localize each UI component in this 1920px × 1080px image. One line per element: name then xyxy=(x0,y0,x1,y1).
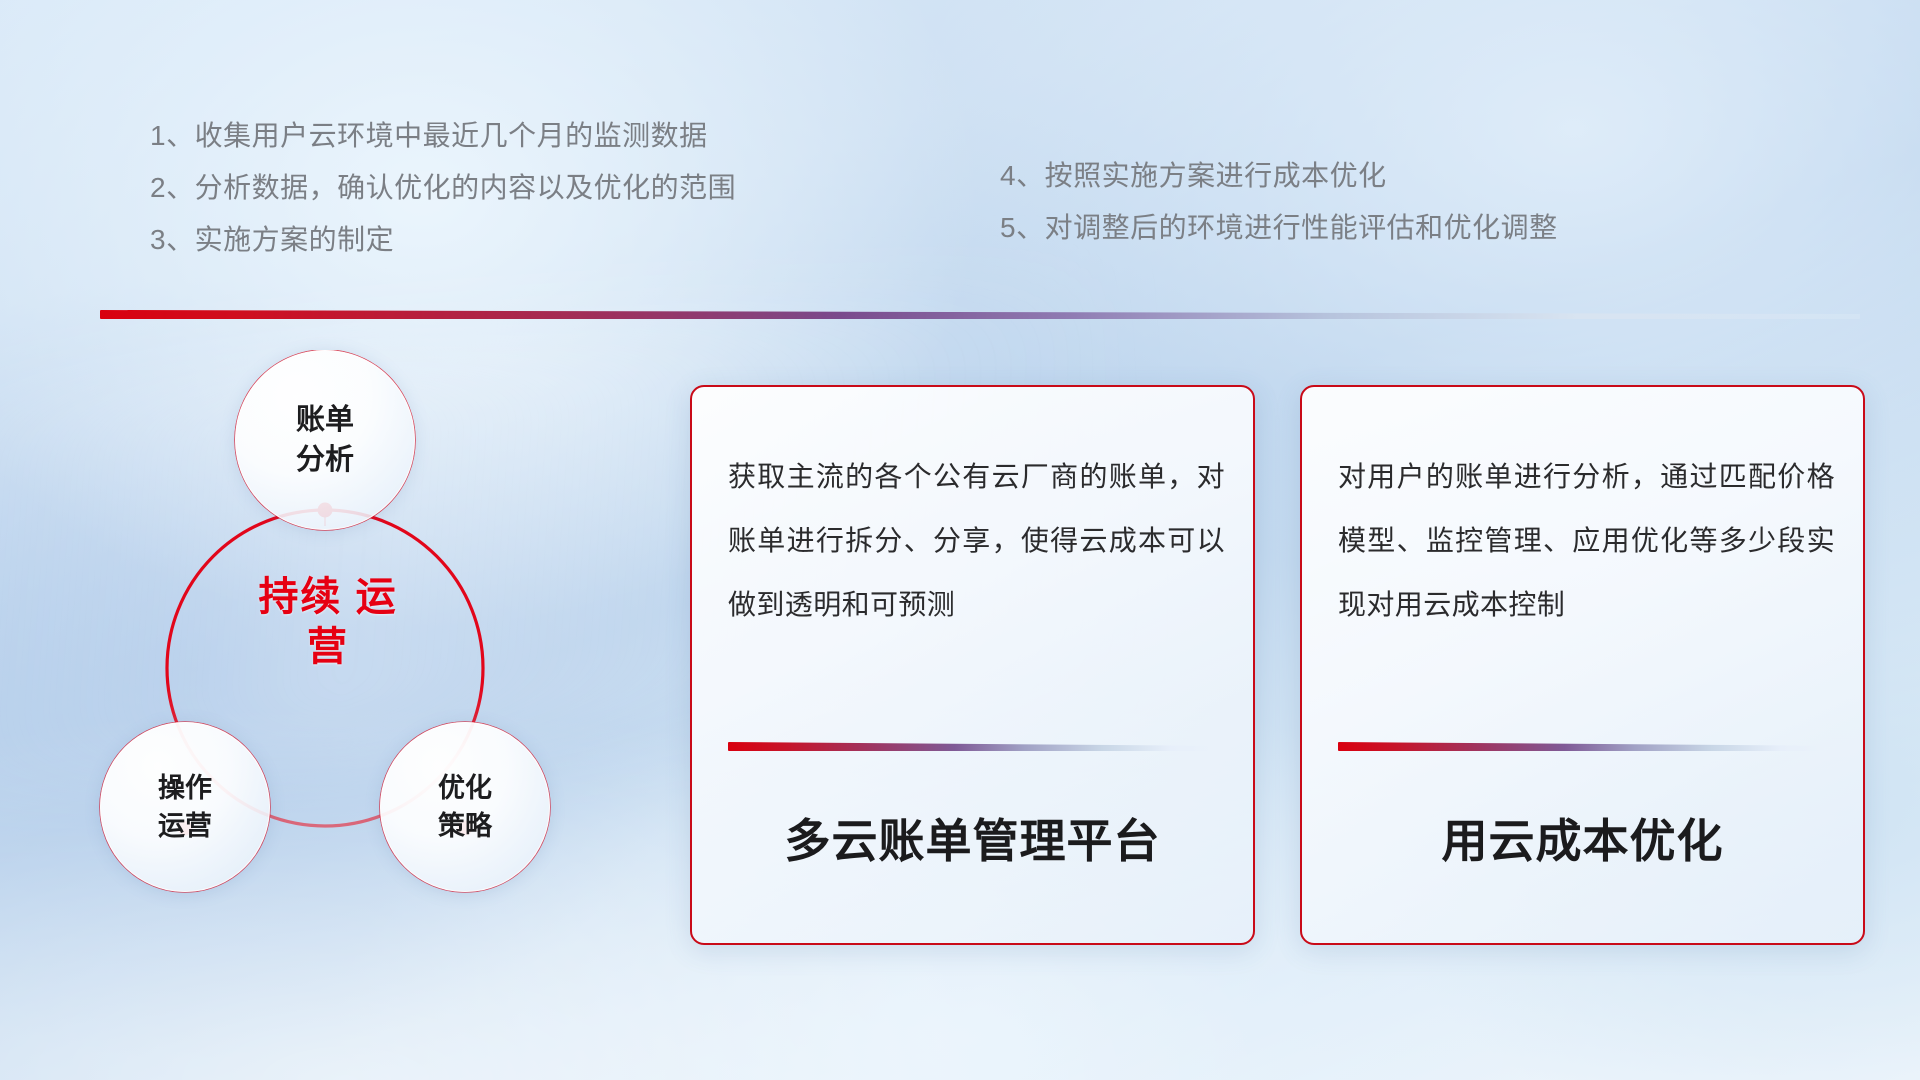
continuous-operation-diagram: 账单 分析 操作 运营 优化 策略 持续 运营 xyxy=(90,350,650,960)
step-item-3: 3、实施方案的制定 xyxy=(150,214,736,266)
steps-right-column: 4、按照实施方案进行成本优化 5、对调整后的环境进行性能评估和优化调整 xyxy=(1000,150,1558,254)
section-divider-bar xyxy=(100,310,1860,319)
card-one-divider xyxy=(728,742,1220,751)
bubble-operations-line1: 操作 xyxy=(158,769,212,807)
step-item-1: 1、收集用户云环境中最近几个月的监测数据 xyxy=(150,110,736,162)
diagram-center-label: 持续 运营 xyxy=(248,572,408,672)
card-cloud-cost-optimization[interactable]: 对用户的账单进行分析，通过匹配价格模型、监控管理、应用优化等多少段实现对用云成本… xyxy=(1300,385,1865,945)
bubble-optimization-strategy[interactable]: 优化 策略 xyxy=(380,722,550,892)
step-item-4: 4、按照实施方案进行成本优化 xyxy=(1000,150,1558,202)
bubble-optimization-strategy-line2: 策略 xyxy=(438,807,492,845)
bubble-optimization-strategy-line1: 优化 xyxy=(438,769,492,807)
bubble-billing-analysis-line2: 分析 xyxy=(296,440,354,480)
slide-root: 1、收集用户云环境中最近几个月的监测数据 2、分析数据，确认优化的内容以及优化的… xyxy=(0,0,1920,1080)
bubble-operations[interactable]: 操作 运营 xyxy=(100,722,270,892)
steps-left-column: 1、收集用户云环境中最近几个月的监测数据 2、分析数据，确认优化的内容以及优化的… xyxy=(150,110,736,266)
card-two-body: 对用户的账单进行分析，通过匹配价格模型、监控管理、应用优化等多少段实现对用云成本… xyxy=(1338,445,1835,637)
card-two-divider xyxy=(1338,742,1830,751)
card-one-body: 获取主流的各个公有云厂商的账单，对账单进行拆分、分享，使得云成本可以做到透明和可… xyxy=(728,445,1225,637)
bubble-operations-line2: 运营 xyxy=(158,807,212,845)
diagram-center-label-line1: 持续 xyxy=(258,575,342,619)
step-item-2: 2、分析数据，确认优化的内容以及优化的范围 xyxy=(150,162,736,214)
card-one-title: 多云账单管理平台 xyxy=(692,805,1253,871)
step-item-5: 5、对调整后的环境进行性能评估和优化调整 xyxy=(1000,202,1558,254)
bubble-billing-analysis[interactable]: 账单 分析 xyxy=(235,350,415,530)
card-two-title: 用云成本优化 xyxy=(1302,805,1863,871)
bubble-billing-analysis-line1: 账单 xyxy=(296,400,354,440)
card-multi-cloud-billing-platform[interactable]: 获取主流的各个公有云厂商的账单，对账单进行拆分、分享，使得云成本可以做到透明和可… xyxy=(690,385,1255,945)
